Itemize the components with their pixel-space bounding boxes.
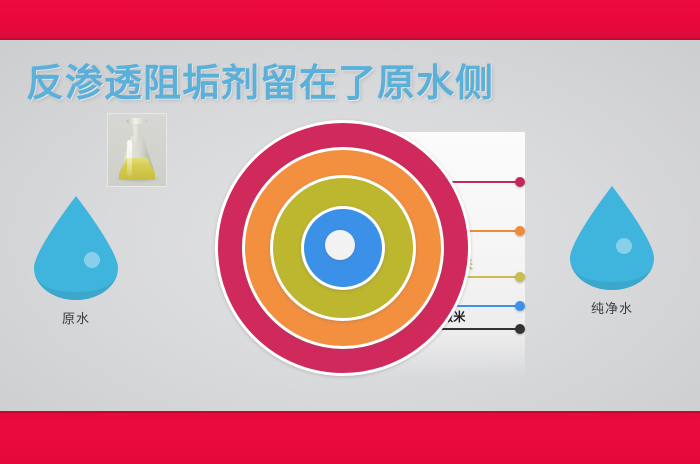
page-title: 反渗透阻垢剂留在了原水侧	[26, 52, 494, 107]
water-drop-icon	[570, 186, 654, 290]
raw-water-drop-group: 原水	[16, 196, 136, 327]
legend-dot-04	[515, 301, 525, 311]
pure-water-drop-group: 纯净水	[552, 186, 672, 317]
filter-arc-05	[325, 230, 355, 260]
legend-dot-03	[515, 272, 525, 282]
legend-dot-02	[515, 226, 525, 236]
legend-dot-01	[515, 177, 525, 187]
drop-highlight	[84, 252, 100, 268]
pure-water-label: 纯净水	[552, 298, 672, 317]
bottom-red-bar	[0, 411, 700, 464]
raw-water-label: 原水	[16, 308, 136, 327]
drop-body	[34, 196, 118, 300]
water-drop-icon	[34, 196, 118, 300]
drop-body	[570, 186, 654, 290]
slide-canvas: 反渗透阻垢剂留在了原水侧 01，毛发13微米02，细菌0.2~1微米03，病毒0…	[0, 0, 700, 464]
top-red-bar	[0, 0, 700, 40]
drop-highlight	[616, 238, 632, 254]
concentric-filter-arcs	[100, 120, 340, 370]
legend-dot-05	[515, 324, 525, 334]
